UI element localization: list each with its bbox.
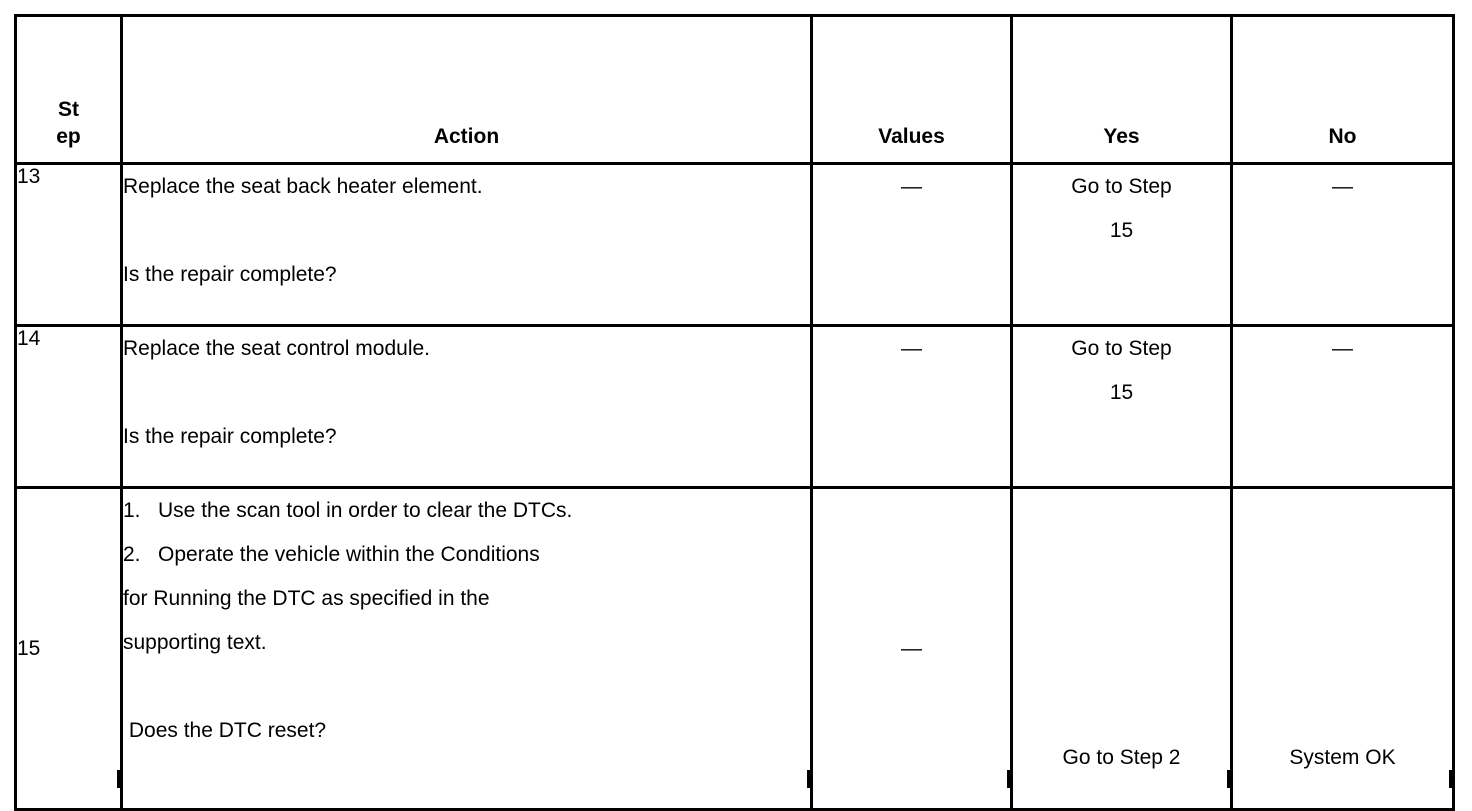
table-header-row: St ep Action Values Yes No <box>16 16 1454 164</box>
table-row: 13 Replace the seat back heater element.… <box>16 164 1454 326</box>
grid-line <box>117 770 120 788</box>
values-text: — <box>812 164 1012 326</box>
action-question: Does the DTC reset? <box>123 709 810 753</box>
action-numbered-item: 2. Operate the vehicle within the Condit… <box>123 533 810 577</box>
action-numbered-item: 1. Use the scan tool in order to clear t… <box>123 489 810 533</box>
column-header-action: Action <box>122 16 812 164</box>
action-line: supporting text. <box>123 621 810 665</box>
yes-branch-line: 15 <box>1013 209 1230 253</box>
action-line: Replace the seat back heater element. <box>123 165 810 209</box>
step-number: 14 <box>16 326 122 488</box>
column-header-no: No <box>1232 16 1454 164</box>
no-branch-text: — <box>1232 326 1454 488</box>
action-text: Replace the seat control module. Is the … <box>122 326 812 488</box>
table-body: 13 Replace the seat back heater element.… <box>16 164 1454 810</box>
grid-line <box>1007 770 1010 788</box>
action-blank-line <box>123 371 810 415</box>
step-number: 13 <box>16 164 122 326</box>
next-row-partial <box>14 770 1452 788</box>
yes-branch-line: Go to Step <box>1013 165 1230 209</box>
grid-line <box>807 770 810 788</box>
table-row: 15 1. Use the scan tool in order to clea… <box>16 488 1454 810</box>
action-line: Is the repair complete? <box>123 415 810 459</box>
action-blank-line <box>123 209 810 253</box>
column-header-step: St ep <box>16 16 122 164</box>
yes-branch-text: Go to Step 15 <box>1012 326 1232 488</box>
grid-line <box>14 770 17 788</box>
no-branch-text: System OK <box>1232 488 1454 810</box>
values-text: — <box>812 326 1012 488</box>
document-page: St ep Action Values Yes No 13 Replace th… <box>0 0 1472 788</box>
grid-line <box>1227 770 1230 788</box>
yes-branch-line: 15 <box>1013 371 1230 415</box>
column-header-step-line-1: St <box>58 98 79 121</box>
table-row: 14 Replace the seat control module. Is t… <box>16 326 1454 488</box>
action-blank-line <box>123 665 810 709</box>
column-header-step-line-2: ep <box>56 125 81 148</box>
table-head: St ep Action Values Yes No <box>16 16 1454 164</box>
yes-branch-text: Go to Step 2 <box>1012 488 1232 810</box>
yes-branch-line: Go to Step <box>1013 327 1230 371</box>
values-text: — <box>812 488 1012 810</box>
action-line: for Running the DTC as specified in the <box>123 577 810 621</box>
grid-line <box>1449 770 1452 788</box>
step-number: 15 <box>16 488 122 810</box>
action-line: Is the repair complete? <box>123 253 810 297</box>
action-text: Replace the seat back heater element. Is… <box>122 164 812 326</box>
action-text: 1. Use the scan tool in order to clear t… <box>122 488 812 810</box>
diagnostic-procedure-table: St ep Action Values Yes No 13 Replace th… <box>14 14 1455 811</box>
no-branch-text: — <box>1232 164 1454 326</box>
column-header-values: Values <box>812 16 1012 164</box>
yes-branch-text: Go to Step 15 <box>1012 164 1232 326</box>
column-header-yes: Yes <box>1012 16 1232 164</box>
action-line: Replace the seat control module. <box>123 327 810 371</box>
